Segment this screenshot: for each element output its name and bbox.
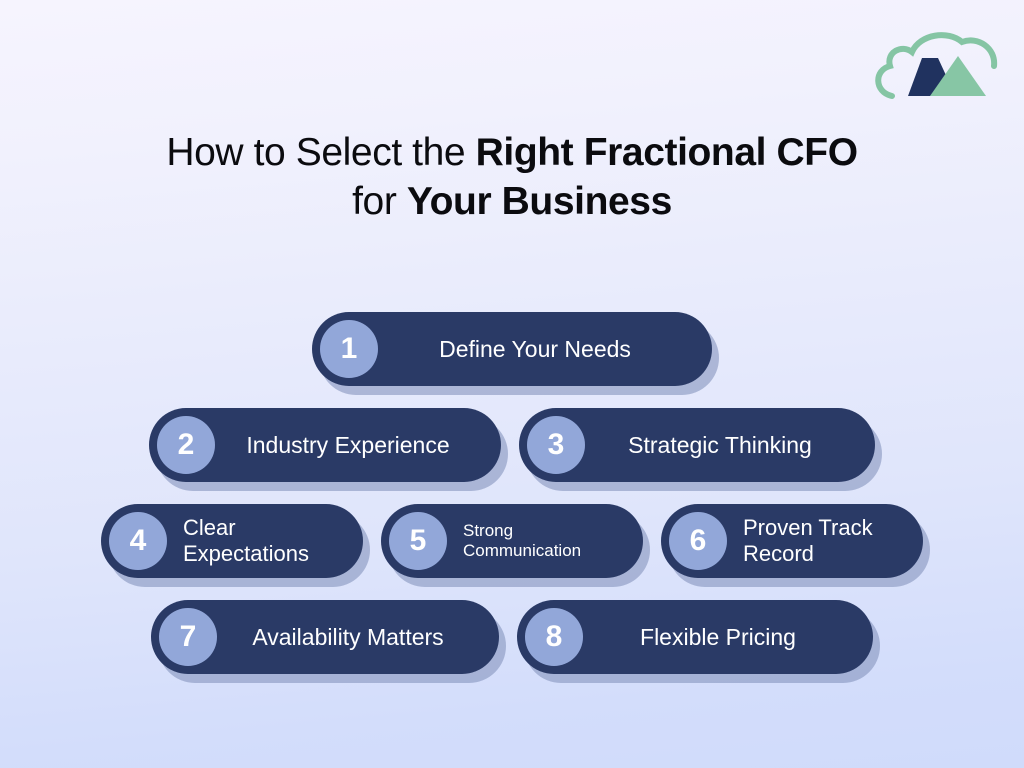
title-line-1-bold: Right Fractional CFO — [476, 131, 858, 174]
step-label-4: Clear Expectations — [167, 515, 337, 566]
title-line-1-normal: How to Select the — [166, 131, 475, 174]
page-title: How to Select the Right Fractional CFO f… — [0, 128, 1024, 226]
title-line-2-bold: Your Business — [407, 180, 672, 223]
steps-row-3: 4 Clear Expectations 5 Strong Communicat… — [101, 504, 923, 578]
step-item-5[interactable]: 5 Strong Communication — [381, 504, 643, 578]
step-item-1[interactable]: 1 Define Your Needs — [312, 312, 712, 386]
step-number-badge-7: 7 — [159, 608, 217, 666]
step-number-badge-8: 8 — [525, 608, 583, 666]
step-number-badge-6: 6 — [669, 512, 727, 570]
step-label-8: Flexible Pricing — [583, 624, 847, 651]
step-item-2[interactable]: 2 Industry Experience — [149, 408, 501, 482]
page-title-line-2: for Your Business — [0, 177, 1024, 226]
page-title-line-1: How to Select the Right Fractional CFO — [0, 128, 1024, 177]
step-item-8[interactable]: 8 Flexible Pricing — [517, 600, 873, 674]
title-line-2-normal: for — [352, 180, 407, 223]
cloud-mountains-logo — [870, 22, 1002, 108]
step-item-6[interactable]: 6 Proven Track Record — [661, 504, 923, 578]
step-label-7: Availability Matters — [217, 624, 473, 651]
step-item-3[interactable]: 3 Strategic Thinking — [519, 408, 875, 482]
steps-row-1: 1 Define Your Needs — [312, 312, 712, 386]
steps-row-4: 7 Availability Matters 8 Flexible Pricin… — [151, 600, 873, 674]
step-label-2: Industry Experience — [215, 432, 475, 459]
step-item-4[interactable]: 4 Clear Expectations — [101, 504, 363, 578]
step-number-badge-2: 2 — [157, 416, 215, 474]
step-label-3: Strategic Thinking — [585, 432, 849, 459]
step-number-badge-4: 4 — [109, 512, 167, 570]
step-number-badge-1: 1 — [320, 320, 378, 378]
step-label-5: Strong Communication — [447, 521, 617, 560]
step-number-badge-5: 5 — [389, 512, 447, 570]
step-label-6: Proven Track Record — [727, 515, 897, 566]
step-label-1: Define Your Needs — [378, 336, 686, 363]
steps-pyramid: 1 Define Your Needs 2 Industry Experienc… — [0, 312, 1024, 674]
steps-row-2: 2 Industry Experience 3 Strategic Thinki… — [149, 408, 875, 482]
step-item-7[interactable]: 7 Availability Matters — [151, 600, 499, 674]
step-number-badge-3: 3 — [527, 416, 585, 474]
